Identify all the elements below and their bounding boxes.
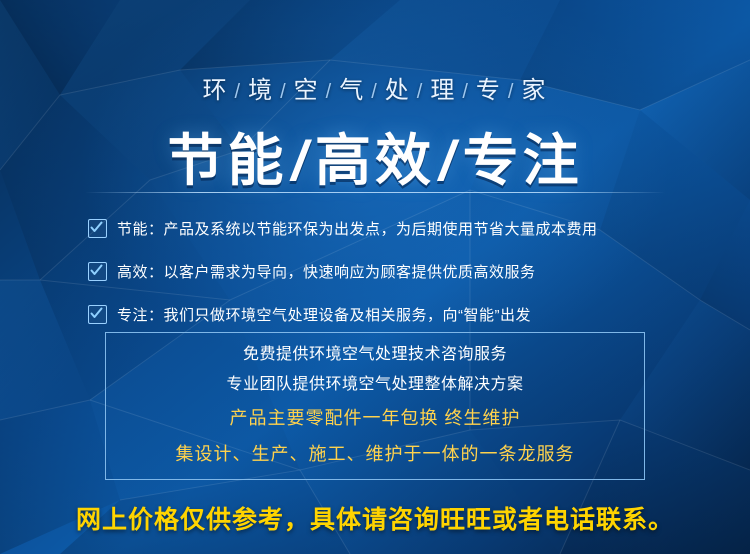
headline-big-part: 专注 bbox=[463, 129, 583, 192]
services-box: 免费提供环境空气处理技术咨询服务 专业团队提供环境空气处理整体解决方案 产品主要… bbox=[105, 332, 645, 480]
headline-separator: / bbox=[280, 81, 288, 103]
check-icon bbox=[88, 305, 107, 324]
feature-list: 节能：产品及系统以节能环保为出发点，为后期使用节省大量成本费用 高效：以客户需求… bbox=[88, 208, 688, 337]
service-line-highlight: 集设计、生产、施工、维护于一体的一条龙服务 bbox=[176, 445, 575, 463]
headline-separator: / bbox=[508, 81, 516, 103]
check-icon bbox=[88, 262, 107, 281]
headline-small-char: 处 bbox=[385, 77, 411, 104]
headline-separator: / bbox=[371, 81, 379, 103]
list-item-label: 节能：产品及系统以节能环保为出发点，为后期使用节省大量成本费用 bbox=[117, 218, 598, 239]
headline-small: 环/境/空/气/处/理/专/家 bbox=[0, 70, 750, 105]
headline-separator: / bbox=[235, 81, 243, 103]
headline-small-char: 气 bbox=[339, 77, 365, 104]
list-item: 专注：我们只做环境空气处理设备及相关服务，向“智能”出发 bbox=[88, 294, 688, 334]
headline-big-part: 节能 bbox=[167, 129, 287, 192]
check-icon bbox=[88, 219, 107, 238]
headline-separator: / bbox=[326, 81, 334, 103]
headline-small-char: 境 bbox=[248, 77, 274, 104]
headline-small-char: 理 bbox=[430, 77, 456, 104]
divider bbox=[85, 192, 665, 193]
headline-separator: / bbox=[462, 81, 470, 103]
service-line-highlight: 产品主要零配件一年包换 终生维护 bbox=[230, 409, 521, 427]
service-line: 专业团队提供环境空气处理整体解决方案 bbox=[226, 377, 523, 393]
headline-separator: / bbox=[417, 81, 425, 103]
headline-big-separator: / bbox=[439, 129, 459, 192]
headline-small-char: 环 bbox=[203, 77, 229, 104]
list-item: 高效：以客户需求为导向，快速响应为顾客提供优质高效服务 bbox=[88, 251, 688, 291]
list-item: 节能：产品及系统以节能环保为出发点，为后期使用节省大量成本费用 bbox=[88, 208, 688, 248]
service-line: 免费提供环境空气处理技术咨询服务 bbox=[243, 347, 507, 363]
headline-big-separator: / bbox=[291, 129, 311, 192]
promo-banner: 环/境/空/气/处/理/专/家 节能/高效/专注 节能：产品及系统以节能环保为出… bbox=[0, 0, 750, 554]
headline-small-char: 家 bbox=[521, 77, 547, 104]
list-item-label: 高效：以客户需求为导向，快速响应为顾客提供优质高效服务 bbox=[117, 261, 536, 282]
headline-big: 节能/高效/专注 bbox=[0, 116, 750, 197]
headline-small-char: 专 bbox=[476, 77, 502, 104]
headline-small-char: 空 bbox=[294, 77, 320, 104]
price-disclaimer: 网上价格仅供参考，具体请咨询旺旺或者电话联系。 bbox=[0, 500, 750, 536]
headline-big-part: 高效 bbox=[315, 129, 435, 192]
list-item-label: 专注：我们只做环境空气处理设备及相关服务，向“智能”出发 bbox=[117, 304, 531, 325]
